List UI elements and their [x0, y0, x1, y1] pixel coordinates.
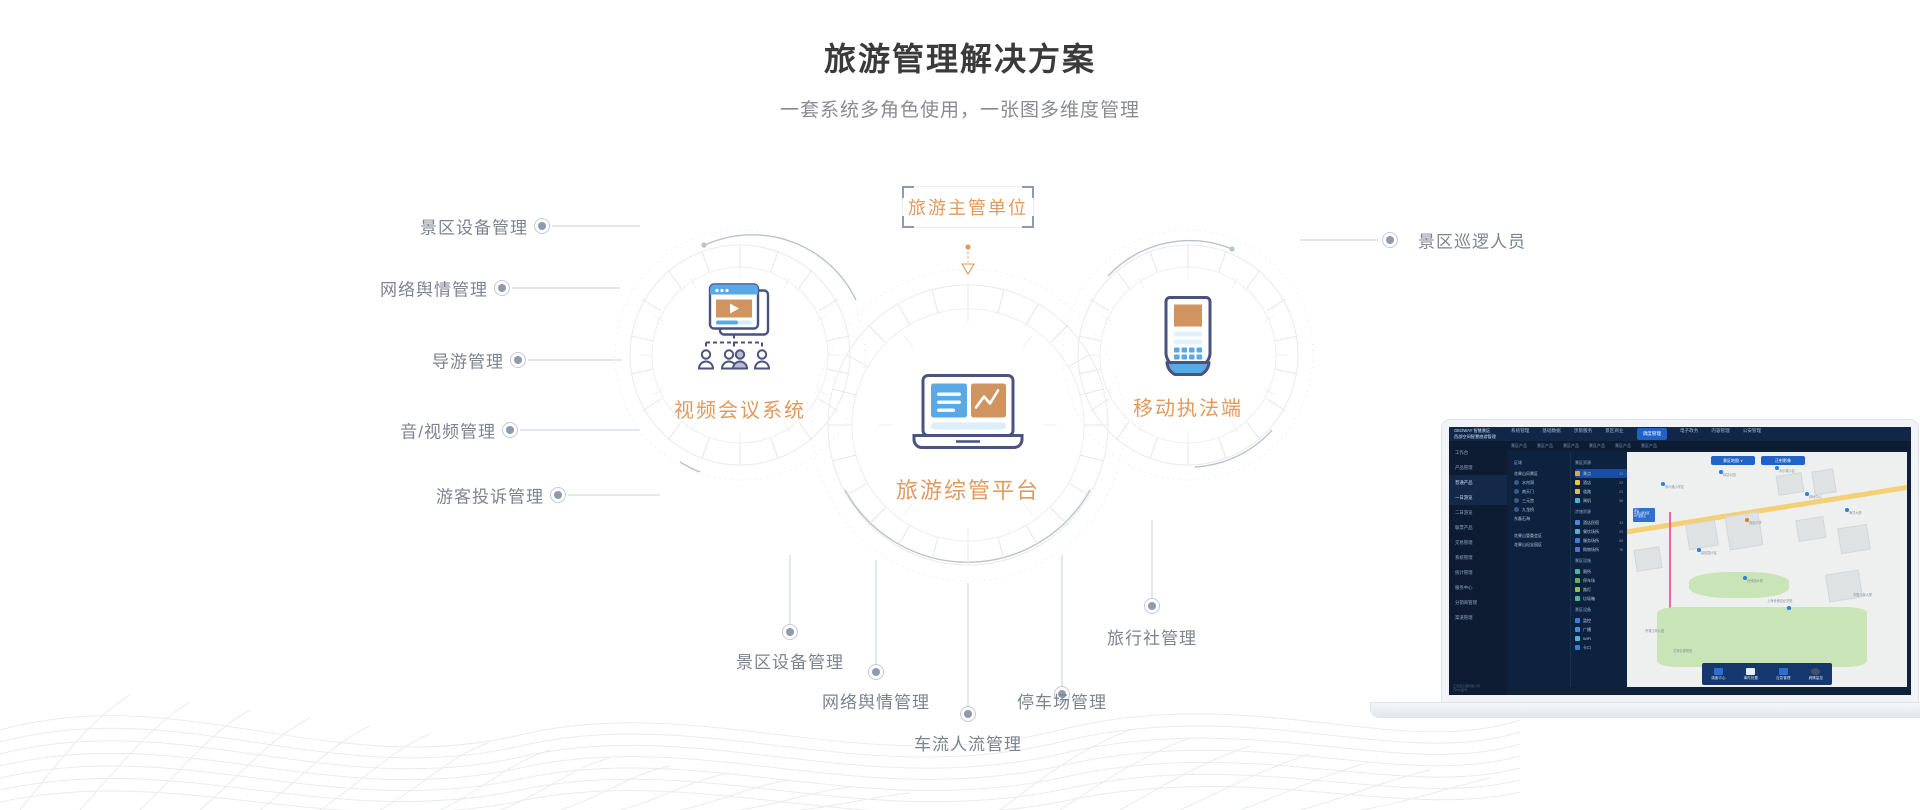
dock-item-2[interactable]: 应急管理	[1776, 668, 1790, 681]
layer-group-title-3: 景区设备	[1575, 607, 1627, 613]
layer-count-0-1: 23	[1619, 481, 1623, 485]
map-place-10: 文博会博物馆	[1673, 648, 1692, 653]
map-place-2: 永乐路小区	[1779, 468, 1795, 473]
map-block-8	[1633, 546, 1662, 572]
tree-label-2: 南天门	[1522, 489, 1534, 495]
map-block-3	[1685, 520, 1719, 550]
layer-swatch-2-1	[1575, 578, 1580, 583]
dashboard-tabs: 景区产品 景区产品 景区产品 景区产品 景区产品 景区产品	[1507, 441, 1911, 450]
sidebar-label-7: 系统管理	[1455, 555, 1473, 561]
layer-item-3-0[interactable]: 监控	[1575, 616, 1627, 625]
menu-item-6[interactable]: 内容管理	[1711, 428, 1729, 440]
authority-box[interactable]: 旅游主管单位	[902, 186, 1034, 228]
layer-count-0-3: 56	[1619, 499, 1623, 503]
menu-item-4[interactable]: 调度管理	[1637, 428, 1667, 440]
authority-box-label: 旅游主管单位	[908, 194, 1028, 220]
tree-item-1[interactable]: 水帘洞	[1514, 478, 1570, 487]
map-place-7: 世博源大厦	[1747, 578, 1763, 583]
tree-label-3: 三元宫	[1522, 498, 1534, 504]
layer-swatch-0-0	[1575, 471, 1580, 476]
tab-0[interactable]: 景区产品	[1511, 443, 1527, 449]
region-tree: 区域 花果山风景区 水帘洞 南天门 三元宫 九龙桥 东磊石海 花果山管委会区 花…	[1509, 452, 1571, 687]
tree-item-7[interactable]: 花果山纪念园区	[1514, 540, 1570, 549]
layer-label-3-1: 广播	[1583, 627, 1591, 633]
sidebar-item-7[interactable]: 系统管理	[1449, 550, 1507, 565]
tree-label-0: 花果山风景区	[1514, 471, 1538, 477]
layer-groups: 景区资源 景点23 酒店23 道路23 闸机56 涉旅资源 酒店民宿43 餐饮场…	[1571, 452, 1627, 687]
layer-label-2-0: 厕所	[1583, 569, 1591, 575]
layer-label-2-2: 路灯	[1583, 587, 1591, 593]
dashboard-sidebar: 工作台 产品管理 普通产品 一日游览 二日游览 联票产品 交易管理 系统管理 统…	[1449, 441, 1507, 695]
layer-label-1-3: 购物场所	[1583, 547, 1599, 553]
dock-label-1: 事件处置	[1744, 676, 1758, 680]
layer-swatch-1-3	[1575, 547, 1580, 552]
dock-item-3[interactable]: 舆情监控	[1809, 668, 1823, 681]
left-label-1: 网络舆情管理	[380, 276, 488, 301]
sidebar-item-1[interactable]: 产品管理	[1449, 460, 1507, 475]
tab-4[interactable]: 景区产品	[1615, 443, 1631, 449]
sidebar-item-4[interactable]: 二日游览	[1449, 505, 1507, 520]
map-park-2	[1657, 607, 1867, 667]
dock-item-0[interactable]: 调度中心	[1711, 668, 1725, 681]
layer-swatch-2-0	[1575, 569, 1580, 574]
layer-swatch-3-1	[1575, 627, 1580, 632]
left-dot-0[interactable]	[534, 218, 550, 234]
layer-item-0-2[interactable]: 道路23	[1575, 487, 1627, 496]
tab-5[interactable]: 景区产品	[1641, 443, 1657, 449]
sidebar-label-4: 二日游览	[1455, 510, 1473, 516]
layer-swatch-1-1	[1575, 529, 1580, 534]
tree-item-6[interactable]: 花果山管委会区	[1514, 531, 1570, 540]
bottom-label-0: 景区设备管理	[736, 648, 844, 673]
layer-label-3-2: WiFi	[1583, 636, 1591, 641]
map-pin-0[interactable]	[1661, 482, 1665, 486]
tree-label-7: 花果山纪念园区	[1514, 542, 1542, 548]
logo-line-2: 西部空间智慧旅游管理	[1454, 434, 1505, 440]
corner-top-right	[1022, 186, 1034, 198]
sidebar-label-9: 服务中心	[1455, 585, 1473, 591]
sidebar-label-8: 统计管理	[1455, 570, 1473, 576]
layer-count-1-2: 65	[1619, 539, 1623, 543]
map-imagery-button[interactable]: 正射影像	[1761, 456, 1805, 465]
dock-item-1[interactable]: 事件处置	[1744, 668, 1758, 681]
tree-bullet-2	[1514, 489, 1519, 494]
right-label-0: 景区巡逻人员	[1418, 228, 1526, 253]
layer-item-2-2[interactable]: 路灯	[1575, 585, 1627, 594]
map-place-0: 徐州路小学区	[1665, 484, 1684, 489]
map-pin-7[interactable]	[1743, 576, 1747, 580]
map-pin-6[interactable]	[1845, 508, 1849, 512]
sidebar-label-6: 交易管理	[1455, 540, 1473, 546]
sidebar-item-10[interactable]: 分销商管理	[1449, 595, 1507, 610]
bottom-label-3: 停车场管理	[1017, 688, 1107, 713]
layer-item-1-3[interactable]: 购物场所78	[1575, 545, 1627, 554]
sidebar-item-9[interactable]: 服务中心	[1449, 580, 1507, 595]
map-block-2	[1811, 468, 1836, 495]
layer-item-2-3[interactable]: 垃圾箱	[1575, 594, 1627, 603]
map-block-4	[1725, 512, 1764, 551]
dashboard-footer: 江苏连云港有限公司 苏ICP备号	[1453, 684, 1505, 692]
left-dot-3[interactable]	[502, 422, 518, 438]
bottom-label-1: 网络舆情管理	[822, 688, 930, 713]
map-place-11: 中国人保大厦	[1853, 592, 1872, 597]
left-dot-1[interactable]	[494, 280, 510, 296]
layer-panel: 区域 花果山风景区 水帘洞 南天门 三元宫 九龙桥 东磊石海 花果山管委会区 花…	[1509, 452, 1627, 687]
dashboard-app: GEOWAY 智慧景区 西部空间智慧旅游管理 系统管理 基础数据 涉旅服务 景区…	[1449, 427, 1911, 695]
layer-label-0-3: 闸机	[1583, 498, 1591, 504]
node-label-platform: 旅游综管平台	[896, 473, 1040, 505]
layer-item-2-1[interactable]: 停车场	[1575, 576, 1627, 585]
layer-swatch-3-0	[1575, 618, 1580, 623]
layer-label-2-1: 停车场	[1583, 578, 1595, 584]
layer-item-1-1[interactable]: 餐饮场所29	[1575, 527, 1627, 536]
bottom-dot-1[interactable]	[868, 664, 884, 680]
map-place-6: 海洋大厦	[1849, 510, 1862, 515]
sidebar-label-3: 一日游览	[1455, 495, 1473, 501]
laptop-mockup: GEOWAY 智慧景区 西部空间智慧旅游管理 系统管理 基础数据 涉旅服务 景区…	[1370, 420, 1920, 720]
node-label-mobile: 移动执法端	[1133, 392, 1243, 421]
laptop-screen: GEOWAY 智慧景区 西部空间智慧旅游管理 系统管理 基础数据 涉旅服务 景区…	[1442, 420, 1918, 702]
map-block-1	[1776, 472, 1805, 496]
tree-item-4[interactable]: 九龙桥	[1514, 505, 1570, 514]
map-pin-1[interactable]	[1719, 470, 1723, 474]
tree-item-3[interactable]: 三元宫	[1514, 496, 1570, 505]
sidebar-label-1: 产品管理	[1455, 465, 1473, 471]
map-place-3: 商品中学	[1749, 520, 1762, 525]
left-label-2: 导游管理	[432, 348, 504, 373]
dashboard-topbar: GEOWAY 智慧景区 西部空间智慧旅游管理 系统管理 基础数据 涉旅服务 景区…	[1449, 427, 1911, 441]
tree-bullet-4	[1514, 507, 1519, 512]
left-dot-4[interactable]	[550, 487, 566, 503]
map-block-7	[1825, 570, 1863, 603]
map-block-5	[1795, 516, 1826, 542]
left-label-3: 音/视频管理	[400, 418, 496, 443]
layer-label-0-1: 酒店	[1583, 480, 1591, 486]
solution-diagram-page: 旅游管理解决方案 一套系统多角色使用，一张图多维度管理	[0, 0, 1920, 810]
layer-item-1-0[interactable]: 酒店民宿43	[1575, 518, 1627, 527]
tree-item-2[interactable]: 南天门	[1514, 487, 1570, 496]
sidebar-item-2[interactable]: 普通产品	[1449, 475, 1507, 490]
sidebar-label-10: 分销商管理	[1455, 600, 1477, 606]
layer-label-3-0: 监控	[1583, 618, 1591, 624]
map-place-4: 碧桂园小区	[1701, 550, 1717, 555]
bottom-dot-2[interactable]	[960, 706, 976, 722]
tree-bullet-3	[1514, 498, 1519, 503]
sidebar-item-3[interactable]: 一日游览	[1449, 490, 1507, 505]
laptop-dashboard-icon	[906, 370, 1030, 467]
handheld-device-icon	[1152, 292, 1224, 389]
menu-item-5[interactable]: 电子政务	[1680, 428, 1698, 440]
left-label-4: 游客投诉管理	[436, 483, 544, 508]
left-dot-2[interactable]	[510, 352, 526, 368]
layer-label-1-2: 服务场所	[1583, 538, 1599, 544]
tab-1[interactable]: 景区产品	[1537, 443, 1553, 449]
layer-count-0-2: 23	[1619, 490, 1623, 494]
dashboard-top-menu: 系统管理 基础数据 涉旅服务 景区商业 调度管理 电子政务 内容管理 公安管理	[1511, 428, 1761, 440]
tree-label-1: 水帘洞	[1522, 480, 1534, 486]
layer-swatch-0-3	[1575, 498, 1580, 503]
map-park-1	[1689, 572, 1789, 598]
menu-item-3[interactable]: 景区商业	[1605, 428, 1623, 440]
layer-item-1-2[interactable]: 服务场所65	[1575, 536, 1627, 545]
map-place-1: 科技公园	[1723, 472, 1736, 477]
layer-label-0-2: 道路	[1583, 489, 1591, 495]
bottom-dot-0[interactable]	[782, 624, 798, 640]
layer-swatch-1-2	[1575, 538, 1580, 543]
map-place-5: 绿地中心	[1809, 494, 1822, 499]
menu-item-1[interactable]: 基础数据	[1542, 428, 1560, 440]
layer-count-0-0: 23	[1619, 472, 1623, 476]
right-dot-0[interactable]	[1382, 232, 1398, 248]
video-conference-icon	[686, 283, 794, 392]
layer-label-1-0: 酒店民宿	[1583, 520, 1599, 526]
tree-bullet-1	[1514, 480, 1519, 485]
sidebar-label-0: 工作台	[1455, 450, 1468, 456]
layer-group-title-0: 景区资源	[1575, 460, 1627, 466]
tree-item-0[interactable]: 花果山风景区	[1514, 469, 1570, 478]
layer-swatch-2-3	[1575, 596, 1580, 601]
menu-item-7[interactable]: 公安管理	[1743, 428, 1761, 440]
menu-item-0[interactable]: 系统管理	[1511, 428, 1529, 440]
tree-item-5[interactable]: 东磊石海	[1514, 514, 1570, 523]
layer-count-1-3: 78	[1619, 548, 1623, 552]
sidebar-item-8[interactable]: 统计管理	[1449, 565, 1507, 580]
map-pin-3[interactable]	[1745, 518, 1749, 522]
layer-item-3-3[interactable]: 卡口	[1575, 643, 1627, 652]
menu-item-2[interactable]: 涉旅服务	[1574, 428, 1592, 440]
map-pin-5[interactable]	[1805, 492, 1809, 496]
layer-count-1-0: 43	[1619, 521, 1623, 525]
corner-bottom-left	[902, 216, 914, 228]
laptop-base	[1370, 702, 1920, 718]
sidebar-label-2: 普通产品	[1455, 480, 1473, 486]
tree-label-5: 东磊石海	[1514, 516, 1530, 522]
map-place-8: 上海世博会纪念馆	[1767, 598, 1793, 603]
layer-count-1-1: 29	[1619, 530, 1623, 534]
layer-item-3-2[interactable]: WiFi	[1575, 634, 1627, 643]
map-pin-8[interactable]	[1787, 606, 1791, 610]
layer-swatch-2-2	[1575, 587, 1580, 592]
bottom-label-4: 旅行社管理	[1107, 624, 1197, 649]
bottom-label-2: 车流人流管理	[914, 730, 1022, 755]
map-pin-2[interactable]	[1775, 466, 1779, 470]
layer-item-0-1[interactable]: 酒店23	[1575, 478, 1627, 487]
layer-item-0-3[interactable]: 闸机56	[1575, 496, 1627, 505]
map-canvas[interactable]: 景区地图 ∨ 正射影像 港口 花果山风景区 3个退票点 徐州路小学区 科技公园 …	[1627, 452, 1907, 687]
sidebar-label-5: 联票产品	[1455, 525, 1473, 531]
dock-label-0: 调度中心	[1711, 676, 1725, 680]
map-basemap-button[interactable]: 景区地图 ∨	[1711, 456, 1755, 465]
dock-label-2: 应急管理	[1776, 676, 1790, 680]
layer-item-0-0[interactable]: 景点23	[1575, 469, 1627, 478]
sidebar-item-11[interactable]: 渠道管理	[1449, 610, 1507, 625]
panel-title: 区域	[1514, 460, 1570, 466]
tab-3[interactable]: 景区产品	[1589, 443, 1605, 449]
map-callout[interactable]: 港口 花果山风景区 3个退票点	[1633, 508, 1655, 522]
map-block-6	[1837, 524, 1871, 554]
dock-label-3: 舆情监控	[1809, 676, 1823, 680]
sidebar-item-5[interactable]: 联票产品	[1449, 520, 1507, 535]
layer-swatch-0-2	[1575, 489, 1580, 494]
layer-swatch-3-3	[1575, 645, 1580, 650]
sidebar-label-11: 渠道管理	[1455, 615, 1473, 621]
layer-swatch-0-1	[1575, 480, 1580, 485]
left-label-0: 景区设备管理	[420, 214, 528, 239]
sidebar-item-6[interactable]: 交易管理	[1449, 535, 1507, 550]
map-place-9: 黄浦江畔公园	[1645, 628, 1664, 633]
layer-swatch-3-2	[1575, 636, 1580, 641]
layer-label-0-0: 景点	[1583, 471, 1591, 477]
layer-group-title-2: 景区设施	[1575, 558, 1627, 564]
tree-label-4: 九龙桥	[1522, 507, 1534, 513]
node-label-video: 视频会议系统	[674, 394, 806, 423]
map-pin-4[interactable]	[1697, 548, 1701, 552]
corner-top-left	[902, 186, 914, 198]
layer-label-1-1: 餐饮场所	[1583, 529, 1599, 535]
layer-item-3-1[interactable]: 广播	[1575, 625, 1627, 634]
tab-2[interactable]: 景区产品	[1563, 443, 1579, 449]
bottom-dot-4[interactable]	[1144, 598, 1160, 614]
layer-item-2-0[interactable]: 厕所	[1575, 567, 1627, 576]
layer-label-2-3: 垃圾箱	[1583, 596, 1595, 602]
tree-label-6: 花果山管委会区	[1514, 533, 1542, 539]
dashboard-logo: GEOWAY 智慧景区 西部空间智慧旅游管理	[1449, 428, 1505, 439]
layer-label-3-3: 卡口	[1583, 645, 1591, 651]
layer-group-title-1: 涉旅资源	[1575, 509, 1627, 515]
sidebar-item-0[interactable]: 工作台	[1449, 445, 1507, 460]
corner-bottom-right	[1022, 216, 1034, 228]
map-dock: 调度中心 事件处置 应急管理 舆情监控	[1702, 663, 1832, 685]
layer-swatch-1-0	[1575, 520, 1580, 525]
